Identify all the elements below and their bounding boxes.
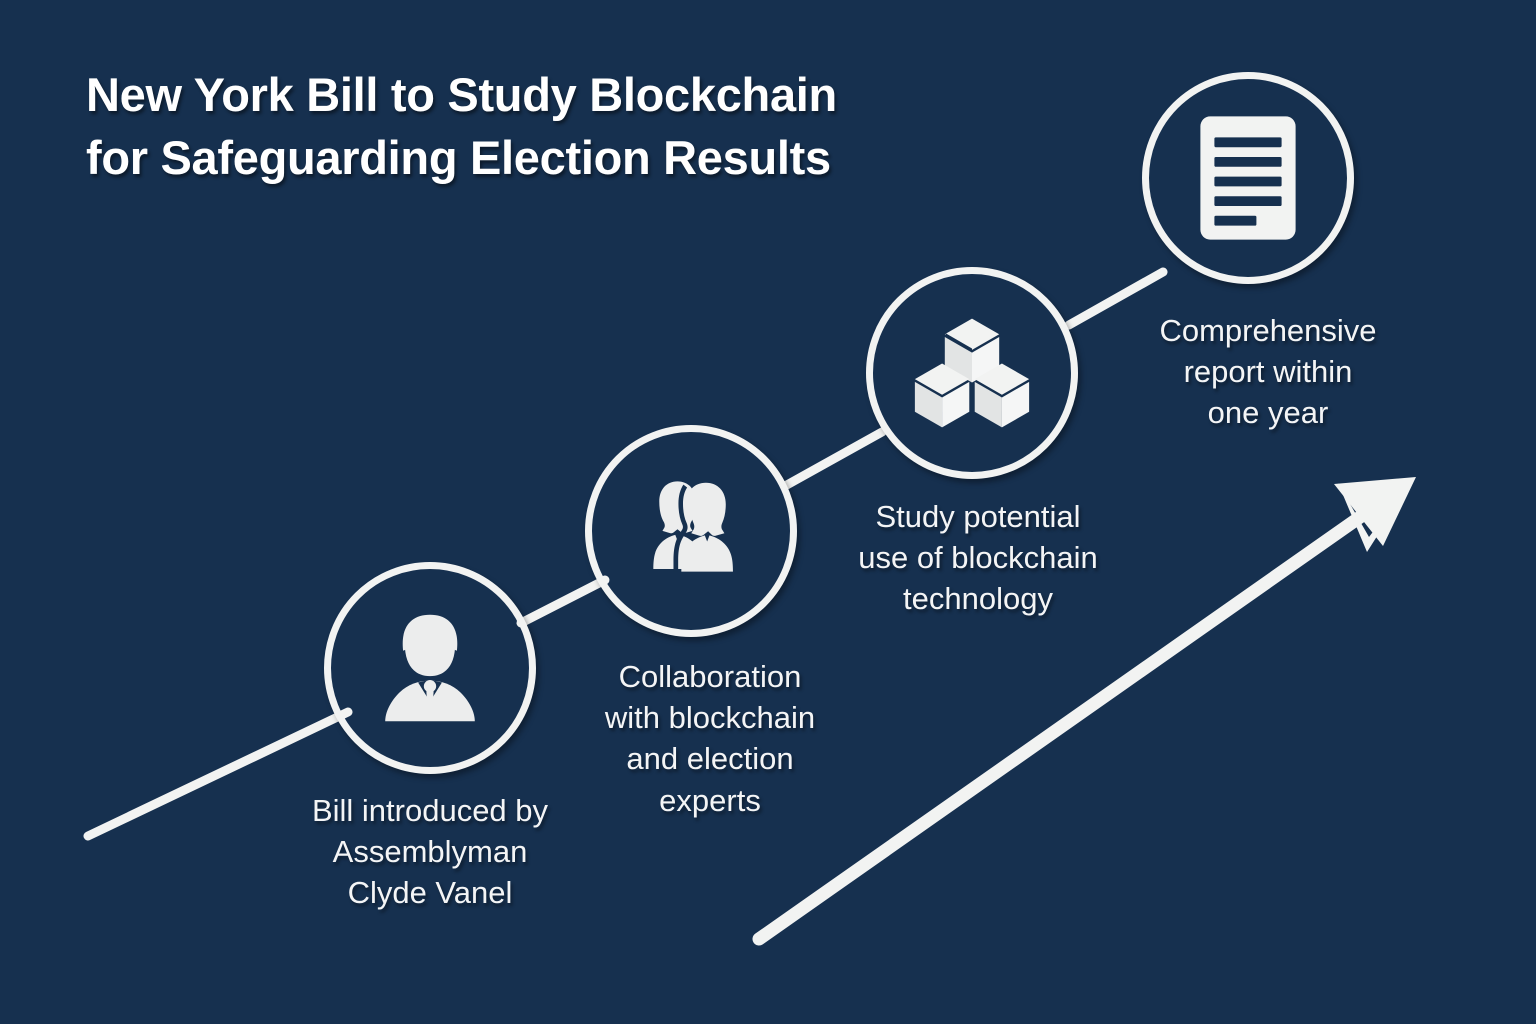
businessman-icon [360, 598, 500, 738]
connector-1-2 [521, 580, 605, 623]
step-node-2-label: Collaboration with blockchain and electi… [560, 656, 860, 821]
step-node-3-circle[interactable] [866, 267, 1078, 479]
page-title: New York Bill to Study Blockchain for Sa… [86, 64, 1066, 189]
step-node-4-circle[interactable] [1142, 72, 1354, 284]
step-node-2-circle[interactable] [585, 425, 797, 637]
infographic-canvas: New York Bill to Study Blockchain for Sa… [0, 0, 1536, 1024]
step-node-1-circle[interactable] [324, 562, 536, 774]
connector-2-3 [785, 432, 882, 486]
step-node-3-label: Study potential use of blockchain techno… [828, 496, 1128, 620]
document-icon [1185, 108, 1311, 248]
two-people-icon [622, 462, 760, 600]
step-node-4-label: Comprehensive report within one year [1128, 310, 1408, 434]
blockchain-cubes-icon [904, 305, 1040, 441]
